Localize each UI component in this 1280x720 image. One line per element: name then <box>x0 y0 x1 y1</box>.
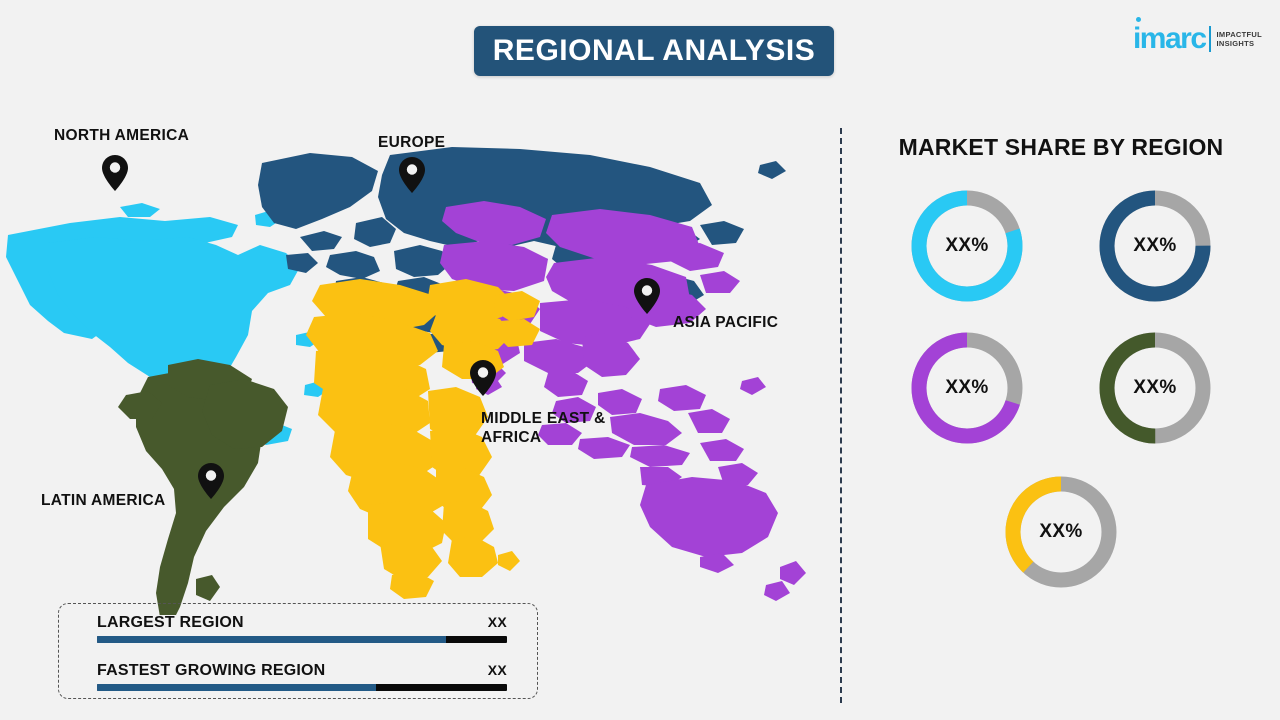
logo-word-text: imarc <box>1133 22 1206 55</box>
region-summary-box: LARGEST REGION XX FASTEST GROWING REGION… <box>58 603 538 699</box>
logo-dot-icon <box>1136 17 1141 22</box>
market-share-panel: MARKET SHARE BY REGION XX%XX%XX%XX% XX% <box>842 120 1280 700</box>
legend-row-fastest-growing-region: FASTEST GROWING REGION XX <box>97 662 507 704</box>
legend-label-fastest-growing-region: FASTEST GROWING REGION <box>97 662 325 680</box>
donut-percent-label: XX% <box>904 325 1030 451</box>
map-label-latin-america: LATIN AMERICA <box>41 492 165 511</box>
map-pin-latin-america-icon[interactable] <box>198 463 224 499</box>
map-label-north-america: NORTH AMERICA <box>54 127 189 146</box>
donut-chart-middle-east-africa[interactable]: XX% <box>998 469 1124 595</box>
logo-tagline: IMPACTFUL INSIGHTS <box>1217 30 1262 49</box>
legend-value-largest-region: XX <box>488 614 507 630</box>
map-region-asia-pacific[interactable] <box>440 201 806 601</box>
donut-percent-label: XX% <box>1092 183 1218 309</box>
progress-track-largest-region <box>97 636 507 643</box>
logo-tagline-line2: INSIGHTS <box>1217 39 1262 48</box>
donut-chart-latin-america[interactable]: XX% <box>1092 325 1218 451</box>
logo-tagline-line1: IMPACTFUL <box>1217 30 1262 39</box>
map-pin-asia-pacific-icon[interactable] <box>634 278 660 314</box>
progress-fill-fastest-growing-region <box>97 684 376 691</box>
logo-wordmark: imarc <box>1133 24 1206 54</box>
imarc-logo: imarc IMPACTFUL INSIGHTS <box>1133 22 1262 56</box>
logo-divider <box>1209 26 1211 52</box>
donut-chart-last-row: XX% <box>842 469 1280 595</box>
progress-fill-largest-region <box>97 636 446 643</box>
donut-chart-north-america[interactable]: XX% <box>904 183 1030 309</box>
page-title: REGIONAL ANALYSIS <box>493 34 815 68</box>
legend-label-largest-region: LARGEST REGION <box>97 614 244 632</box>
donut-chart-grid: XX%XX%XX%XX% <box>842 183 1280 451</box>
map-pin-europe-icon[interactable] <box>399 157 425 193</box>
donut-percent-label: XX% <box>998 469 1124 595</box>
map-label-asia-pacific: ASIA PACIFIC <box>673 314 778 333</box>
map-pin-north-america-icon[interactable] <box>102 155 128 191</box>
page-title-banner: REGIONAL ANALYSIS <box>474 26 834 76</box>
map-pin-middle-east-africa-icon[interactable] <box>470 360 496 396</box>
map-islands <box>740 161 786 395</box>
donut-percent-label: XX% <box>1092 325 1218 451</box>
progress-track-fastest-growing-region <box>97 684 507 691</box>
legend-row-largest-region: LARGEST REGION XX <box>97 614 507 656</box>
donut-chart-europe[interactable]: XX% <box>1092 183 1218 309</box>
map-label-europe: EUROPE <box>378 134 445 153</box>
donut-percent-label: XX% <box>904 183 1030 309</box>
world-map-panel: NORTH AMERICA EUROPE ASIA PACIFIC MIDDLE… <box>0 95 830 615</box>
map-label-middle-east-africa: MIDDLE EAST & AFRICA <box>481 410 605 448</box>
donut-chart-asia-pacific[interactable]: XX% <box>904 325 1030 451</box>
legend-value-fastest-growing-region: XX <box>488 662 507 678</box>
market-share-title: MARKET SHARE BY REGION <box>842 134 1280 161</box>
